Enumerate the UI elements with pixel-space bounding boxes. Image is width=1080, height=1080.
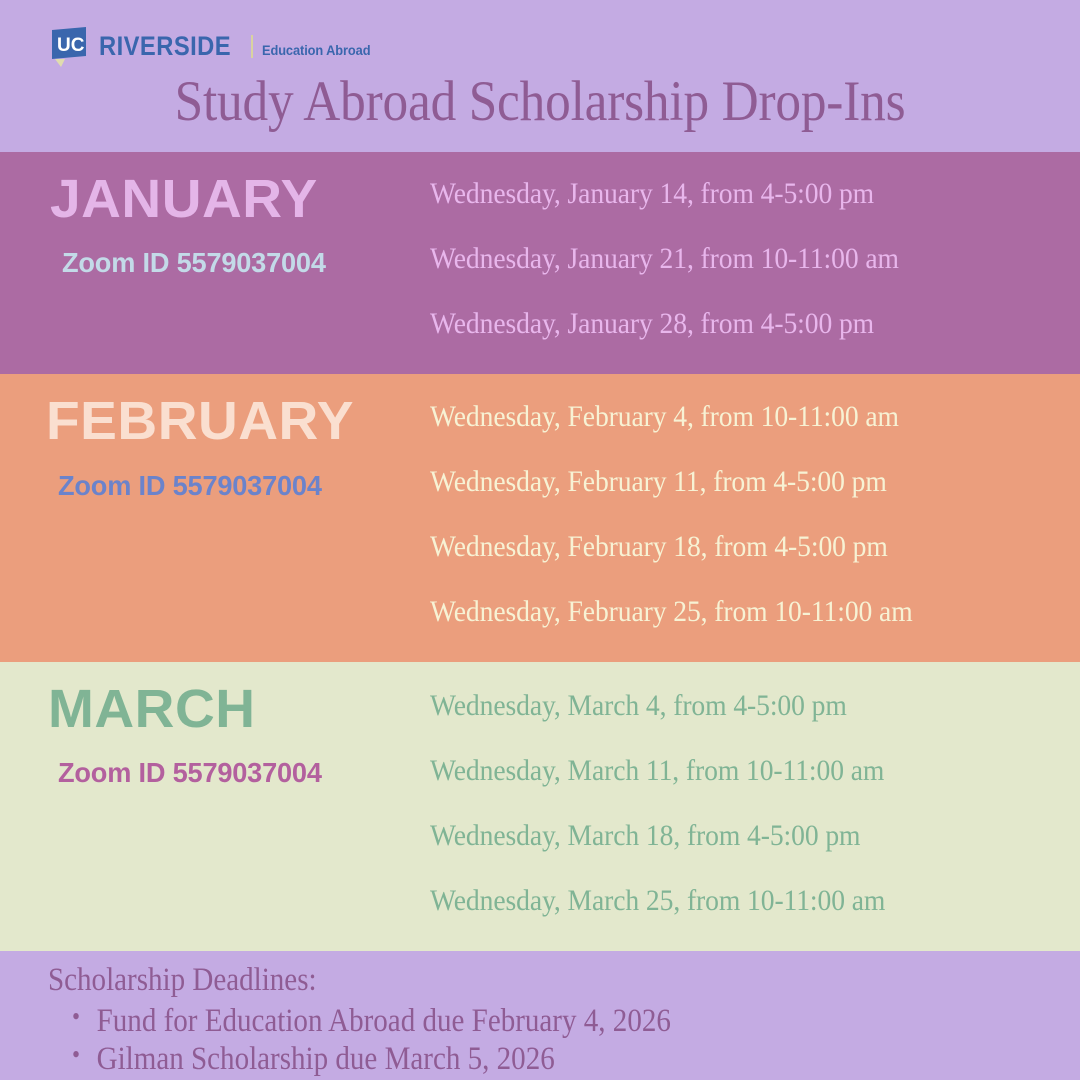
session-item: Wednesday, January 14, from 4-5:00 pm bbox=[430, 179, 1019, 209]
session-item: Wednesday, January 21, from 10-11:00 am bbox=[430, 244, 1019, 274]
scholarship-deadlines-section: Scholarship Deadlines: Fund for Educatio… bbox=[0, 951, 1080, 1080]
session-item: Wednesday, March 11, from 10-11:00 am bbox=[430, 756, 1019, 786]
session-item: Wednesday, February 4, from 10-11:00 am bbox=[430, 402, 1019, 432]
month-section-january: JANUARY Zoom ID 5579037004 Wednesday, Ja… bbox=[0, 152, 1080, 374]
poster-root: UC RIVERSIDE Education Abroad Study Abro… bbox=[0, 0, 1080, 1080]
session-item: Wednesday, March 25, from 10-11:00 am bbox=[430, 886, 1019, 916]
month-section-february: FEBRUARY Zoom ID 5579037004 Wednesday, F… bbox=[0, 374, 1080, 662]
ucr-education-abroad-logo: UC RIVERSIDE Education Abroad bbox=[48, 26, 376, 66]
march-info-column: MARCH Zoom ID 5579037004 bbox=[0, 662, 430, 951]
march-session-list: Wednesday, March 4, from 4-5:00 pm Wedne… bbox=[430, 662, 1080, 951]
deadlines-heading: Scholarship Deadlines: bbox=[48, 963, 956, 998]
month-heading-march: MARCH bbox=[48, 682, 256, 736]
deadline-item: Gilman Scholarship due March 5, 2026 bbox=[72, 1042, 959, 1078]
zoom-id-february: Zoom ID 5579037004 bbox=[58, 472, 322, 500]
january-session-list: Wednesday, January 14, from 4-5:00 pm We… bbox=[430, 152, 1080, 374]
deadline-item: Fund for Education Abroad due February 4… bbox=[72, 1004, 959, 1040]
february-session-list: Wednesday, February 4, from 10-11:00 am … bbox=[430, 374, 1080, 662]
session-item: Wednesday, February 25, from 10-11:00 am bbox=[430, 597, 1019, 627]
session-item: Wednesday, February 18, from 4-5:00 pm bbox=[430, 532, 1019, 562]
page-title: Study Abroad Scholarship Drop-Ins bbox=[54, 70, 1026, 134]
deadlines-list: Fund for Education Abroad due February 4… bbox=[48, 1004, 1080, 1080]
zoom-id-march: Zoom ID 5579037004 bbox=[58, 759, 322, 787]
logo-subbrand-text: Education Abroad bbox=[262, 43, 370, 58]
logo-wordmark: RIVERSIDE Education Abroad bbox=[99, 26, 376, 62]
february-info-column: FEBRUARY Zoom ID 5579037004 bbox=[0, 374, 430, 662]
session-item: Wednesday, March 4, from 4-5:00 pm bbox=[430, 691, 1019, 721]
uc-shield-icon: UC bbox=[48, 26, 92, 70]
logo-divider bbox=[251, 35, 253, 58]
session-item: Wednesday, February 11, from 4-5:00 pm bbox=[430, 467, 1019, 497]
logo-riverside-text: RIVERSIDE bbox=[99, 31, 231, 62]
session-item: Wednesday, January 28, from 4-5:00 pm bbox=[430, 309, 1019, 339]
zoom-id-january: Zoom ID 5579037004 bbox=[62, 249, 326, 277]
poster-header: UC RIVERSIDE Education Abroad Study Abro… bbox=[0, 0, 1080, 152]
month-heading-january: JANUARY bbox=[50, 172, 318, 226]
session-item: Wednesday, March 18, from 4-5:00 pm bbox=[430, 821, 1019, 851]
month-heading-february: FEBRUARY bbox=[46, 394, 354, 448]
month-section-march: MARCH Zoom ID 5579037004 Wednesday, Marc… bbox=[0, 662, 1080, 951]
january-info-column: JANUARY Zoom ID 5579037004 bbox=[0, 152, 430, 374]
svg-text:UC: UC bbox=[57, 35, 85, 56]
